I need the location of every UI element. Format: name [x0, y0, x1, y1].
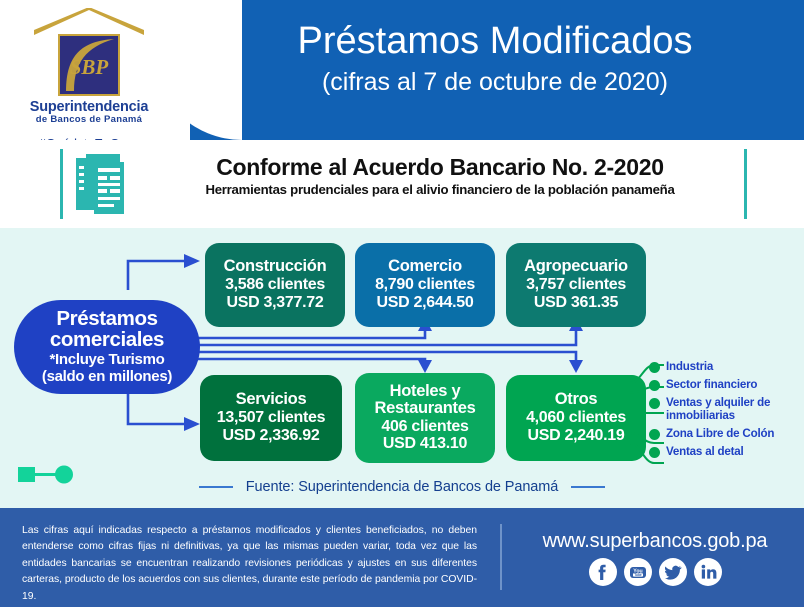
card-sector-name: Otros [555, 391, 598, 408]
acuerdo-bar: Conforme al Acuerdo Bancario No. 2-2020 … [0, 140, 804, 228]
otros-breakdown-list: Industria Sector financiero Ventas y alq… [649, 360, 804, 463]
bullet-dot-icon [649, 398, 660, 409]
logo-line-1: Superintendencia [14, 99, 164, 115]
footer-bar: Las cifras aquí indicadas respecto a pré… [0, 508, 804, 607]
card-amount: USD 361.35 [534, 294, 618, 312]
hub-line-3: *Incluye Turismo [50, 352, 165, 369]
sector-card-comercio: Comercio 8,790 clientes USD 2,644.50 [355, 243, 495, 327]
card-amount: USD 2,336.92 [223, 427, 320, 445]
page-subtitle: (cifras al 7 de octubre de 2020) [195, 69, 795, 95]
breakdown-label: Industria [666, 360, 713, 373]
hub-prestamos-comerciales: Préstamos comerciales *Incluye Turismo (… [14, 300, 200, 394]
card-amount: USD 2,240.19 [528, 427, 625, 445]
acuerdo-subheading: Herramientas prudenciales para el alivio… [140, 182, 740, 197]
card-clients: 4,060 clientes [526, 409, 626, 427]
source-note-row: Fuente: Superintendencia de Bancos de Pa… [0, 478, 804, 496]
sector-card-otros: Otros 4,060 clientes USD 2,240.19 [506, 375, 646, 461]
logo-line-2: de Bancos de Panamá [14, 114, 164, 125]
footer-website[interactable]: www.superbancos.gob.pa [520, 530, 790, 553]
list-item: Ventas al detal [649, 445, 804, 458]
social-links: You Tube [520, 558, 790, 586]
facebook-icon[interactable] [589, 558, 617, 586]
logo-mark-text: SBP [60, 55, 118, 80]
sector-card-servicios: Servicios 13,507 clientes USD 2,336.92 [200, 375, 342, 461]
card-sector-name: Agropecuario [524, 258, 628, 275]
card-sector-name: Comercio [388, 258, 462, 275]
bullet-dot-icon [649, 380, 660, 391]
card-clients: 13,507 clientes [217, 409, 325, 427]
youtube-icon[interactable]: You Tube [624, 558, 652, 586]
source-note: Fuente: Superintendencia de Bancos de Pa… [246, 479, 558, 495]
linkedin-icon[interactable] [694, 558, 722, 586]
decorative-square-dot [16, 462, 96, 486]
sector-card-agropecuario: Agropecuario 3,757 clientes USD 361.35 [506, 243, 646, 327]
acuerdo-text: Conforme al Acuerdo Bancario No. 2-2020 … [140, 154, 740, 197]
hub-line-2: comerciales [50, 330, 164, 351]
logo-mark-box: SBP [58, 34, 120, 96]
header-title-block: Préstamos Modificados (cifras al 7 de oc… [195, 22, 795, 95]
sector-card-construccion: Construcción 3,586 clientes USD 3,377.72 [205, 243, 345, 327]
source-dash-right [571, 486, 605, 488]
acuerdo-heading: Conforme al Acuerdo Bancario No. 2-2020 [140, 154, 740, 180]
bullet-dot-icon [649, 447, 660, 458]
hub-line-4: (saldo en millones) [42, 369, 172, 386]
list-item: Ventas y alquiler deinmobiliarias [649, 396, 804, 422]
source-dash-left [199, 486, 233, 488]
page-title: Préstamos Modificados [195, 22, 795, 62]
footer-divider [500, 524, 502, 590]
card-clients: 3,586 clientes [225, 276, 325, 294]
bullet-dot-icon [649, 362, 660, 373]
breakdown-label: Zona Libre de Colón [666, 427, 774, 440]
card-clients: 8,790 clientes [375, 276, 475, 294]
infographic-page: SBP Superintendencia de Bancos de Panamá… [0, 0, 804, 607]
document-icon [74, 152, 134, 216]
footer-disclaimer: Las cifras aquí indicadas respecto a pré… [22, 523, 477, 605]
breakdown-label: Ventas y alquiler deinmobiliarias [666, 396, 770, 422]
header-banner: SBP Superintendencia de Bancos de Panamá… [0, 0, 804, 140]
hub-line-1: Préstamos [56, 309, 157, 330]
card-sector-name: Hoteles y [390, 383, 461, 400]
breakdown-label: Sector financiero [666, 378, 757, 391]
breakdown-label: Ventas al detal [666, 445, 744, 458]
card-amount: USD 2,644.50 [377, 294, 474, 312]
list-item: Zona Libre de Colón [649, 427, 804, 440]
sbp-logo: SBP Superintendencia de Bancos de Panamá… [14, 8, 164, 140]
card-sector-name: Servicios [236, 391, 307, 408]
sector-card-hoteles-restaurantes: Hoteles y Restaurantes 406 clientes USD … [355, 373, 495, 463]
card-sector-name: Construcción [224, 258, 327, 275]
card-amount: USD 3,377.72 [227, 294, 324, 312]
card-amount: USD 413.10 [383, 435, 467, 453]
card-sector-name-2: Restaurantes [375, 400, 476, 417]
twitter-icon[interactable] [659, 558, 687, 586]
acuerdo-rule-right [744, 149, 747, 219]
list-item: Sector financiero [649, 378, 804, 391]
card-clients: 406 clientes [381, 418, 468, 436]
logo-roof-icon [30, 8, 148, 36]
list-item: Industria [649, 360, 804, 373]
logo-hashtag: #QuédateEnCasa [14, 136, 164, 140]
card-clients: 3,757 clientes [526, 276, 626, 294]
acuerdo-rule-left [60, 149, 63, 219]
svg-text:Tube: Tube [634, 573, 642, 577]
bullet-dot-icon [649, 429, 660, 440]
